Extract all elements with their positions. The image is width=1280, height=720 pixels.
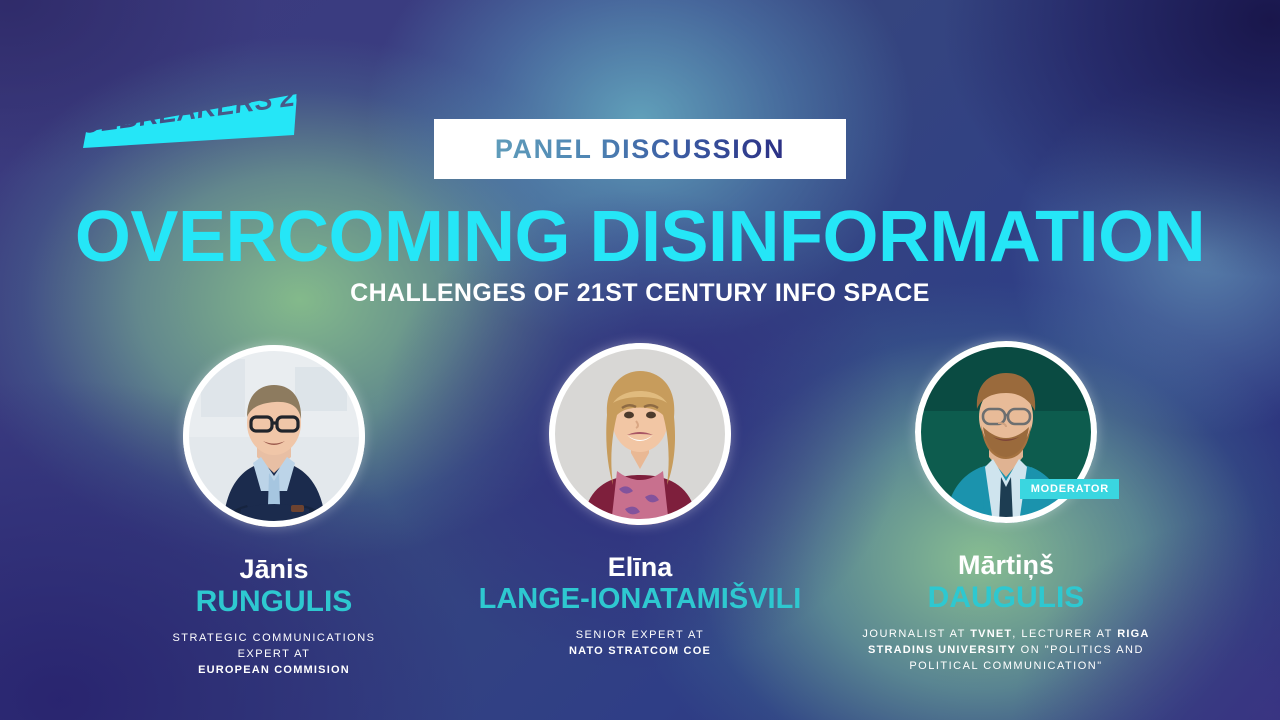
avatar: MODERATOR (915, 341, 1097, 523)
speaker-role-line: SENIOR EXPERT AT (576, 629, 705, 641)
speaker-first-name: Mārtiņš (958, 551, 1054, 579)
avatar-ring (549, 343, 731, 525)
speaker-last-name: LANGE-IONATAMIŠVILI (479, 583, 802, 615)
speaker-role: STRATEGIC COMMUNICATIONS EXPERT AT EUROP… (172, 630, 375, 679)
speaker-role-org: EUROPEAN COMMISION (198, 664, 350, 676)
page-title: OVERCOMING DISINFORMATION (0, 200, 1280, 276)
speaker-last-name: RUNGULIS (196, 585, 353, 619)
speaker-role-org: NATO STRATCOM COE (569, 645, 711, 657)
avatar (549, 343, 731, 525)
speaker-list: Jānis RUNGULIS STRATEGIC COMMUNICATIONS … (0, 340, 1280, 720)
avatar-ring (183, 345, 365, 527)
speaker-last-name: DAUGULIS (928, 581, 1085, 615)
speaker-card[interactable]: Jānis RUNGULIS STRATEGIC COMMUNICATIONS … (91, 340, 457, 679)
avatar (183, 345, 365, 527)
speaker-role-line: EXPERT AT (238, 648, 311, 660)
speaker-role-line: , LECTURER AT (1012, 628, 1117, 640)
icebreakers-logo: ICEBREAKERS'20 (70, 80, 310, 150)
speaker-role: JOURNALIST AT TVNET, LECTURER AT RIGA ST… (861, 626, 1151, 675)
speaker-role: SENIOR EXPERT AT NATO STRATCOM COE (569, 627, 711, 660)
speaker-role-line: JOURNALIST AT (862, 628, 970, 640)
presentation-slide: ICEBREAKERS'20 PANEL DISCUSSION OVERCOMI… (0, 0, 1280, 720)
speaker-role-line: STRATEGIC COMMUNICATIONS (172, 632, 375, 644)
speaker-first-name: Elīna (608, 553, 673, 581)
panel-discussion-label: PANEL DISCUSSION (495, 134, 785, 165)
speaker-first-name: Jānis (239, 555, 308, 583)
speaker-card[interactable]: MODERATOR Mārtiņš DAUGULIS JOURNALIST AT… (823, 340, 1189, 675)
speaker-card[interactable]: Elīna LANGE-IONATAMIŠVILI SENIOR EXPERT … (457, 340, 823, 659)
speaker-role-org: TVNET (970, 628, 1012, 640)
panel-discussion-chip: PANEL DISCUSSION (434, 119, 846, 179)
page-subtitle: CHALLENGES OF 21ST CENTURY INFO SPACE (0, 279, 1280, 308)
moderator-badge: MODERATOR (1020, 479, 1119, 499)
